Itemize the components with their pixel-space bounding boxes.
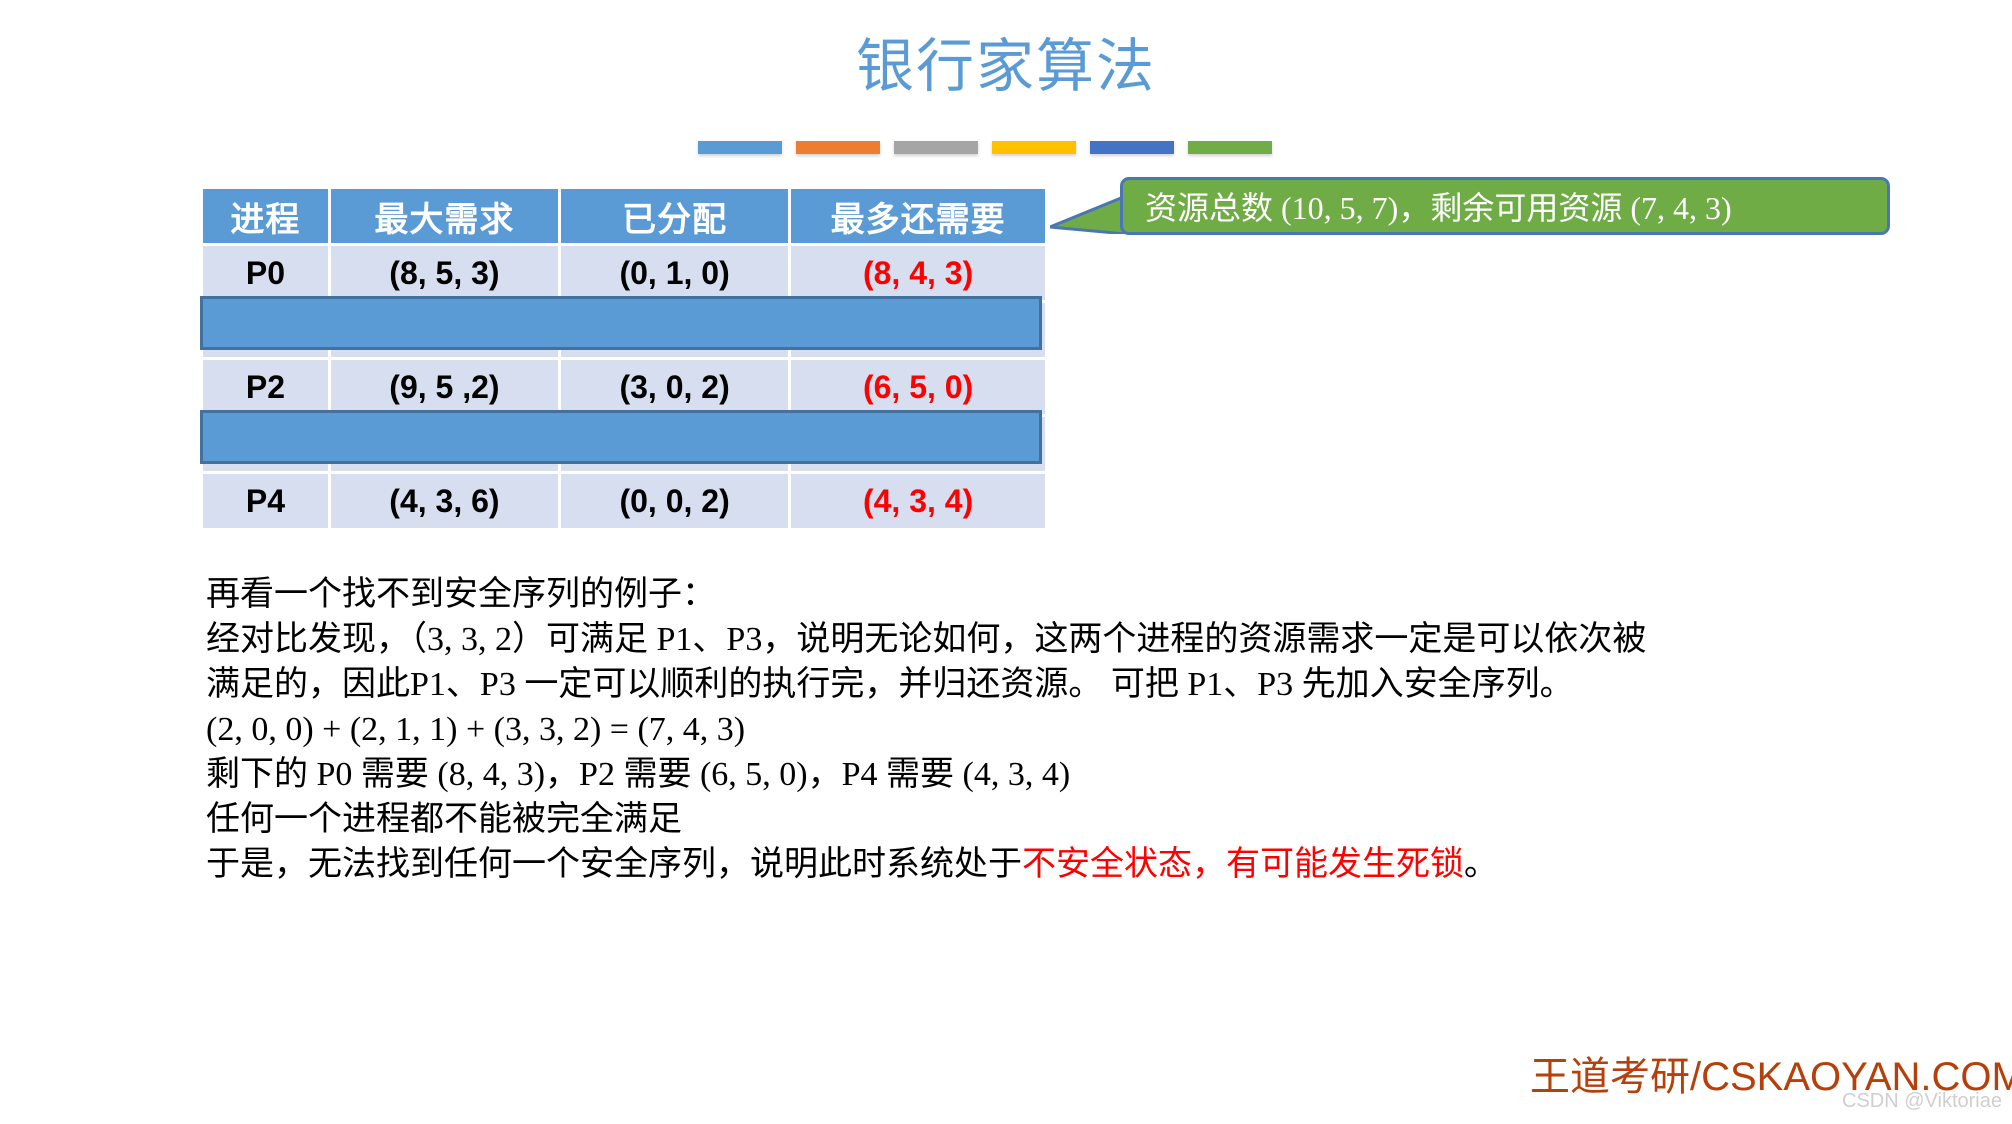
cell-process: P2 <box>203 360 328 414</box>
body-line-6: 任何一个进程都不能被完全满足 <box>206 797 1906 842</box>
cell-need: (4, 3, 4) <box>791 474 1045 528</box>
bankers-algorithm-table: 进程 最大需求 已分配 最多还需要 P0 (8, 5, 3) (0, 1, 0)… <box>200 186 1048 531</box>
table-header-allocated: 已分配 <box>561 189 788 243</box>
body-line-7: 于是，无法找到任何一个安全序列，说明此时系统处于不安全状态，有可能发生死锁。 <box>206 842 1906 887</box>
color-bar-blue <box>698 141 782 154</box>
body-line-5: 剩下的 P0 需要 (8, 4, 3)，P2 需要 (6, 5, 0)，P4 需… <box>206 752 1906 797</box>
explanation-text-block: 再看一个找不到安全序列的例子： 经对比发现，（3, 3, 2）可满足 P1、P3… <box>206 572 1906 887</box>
cell-allocated: (3, 0, 2) <box>561 360 788 414</box>
table-header-max: 最大需求 <box>331 189 558 243</box>
body-line-3: 满足的，因此P1、P3 一定可以顺利的执行完，并归还资源。 可把 P1、P3 先… <box>206 662 1906 707</box>
mask-bar-row-p1 <box>200 296 1042 350</box>
body-line-7-highlight: 不安全状态，有可能发生死锁 <box>1022 846 1464 883</box>
resource-total-callout: 资源总数 (10, 5, 7)，剩余可用资源 (7, 4, 3) <box>1120 177 1890 235</box>
body-line-7-suffix: 。 <box>1464 846 1498 883</box>
color-bar-yellow <box>992 141 1076 154</box>
body-line-2: 经对比发现，（3, 3, 2）可满足 P1、P3，说明无论如何，这两个进程的资源… <box>206 617 1906 662</box>
color-bar-orange <box>796 141 880 154</box>
cell-max: (8, 5, 3) <box>331 246 558 300</box>
mask-bar-row-p3 <box>200 410 1042 464</box>
cell-max: (4, 3, 6) <box>331 474 558 528</box>
table-row: P4 (4, 3, 6) (0, 0, 2) (4, 3, 4) <box>203 474 1045 528</box>
callout-tail-icon <box>1050 196 1126 234</box>
decorative-color-bars <box>698 141 1272 154</box>
body-line-7-prefix: 于是，无法找到任何一个安全序列，说明此时系统处于 <box>206 846 1022 883</box>
table-row: P2 (9, 5 ,2) (3, 0, 2) (6, 5, 0) <box>203 360 1045 414</box>
cell-max: (9, 5 ,2) <box>331 360 558 414</box>
cell-process: P4 <box>203 474 328 528</box>
table-header-need: 最多还需要 <box>791 189 1045 243</box>
callout-text: 资源总数 (10, 5, 7)，剩余可用资源 (7, 4, 3) <box>1145 183 1732 229</box>
table-header-row: 进程 最大需求 已分配 最多还需要 <box>203 189 1045 243</box>
color-bar-gray <box>894 141 978 154</box>
page-title: 银行家算法 <box>0 34 2012 101</box>
color-bar-darkblue <box>1090 141 1174 154</box>
cell-need: (6, 5, 0) <box>791 360 1045 414</box>
color-bar-green <box>1188 141 1272 154</box>
table-row: P0 (8, 5, 3) (0, 1, 0) (8, 4, 3) <box>203 246 1045 300</box>
cell-allocated: (0, 0, 2) <box>561 474 788 528</box>
cell-need: (8, 4, 3) <box>791 246 1045 300</box>
body-line-4: (2, 0, 0) + (2, 1, 1) + (3, 3, 2) = (7, … <box>206 707 1906 752</box>
watermark-label: CSDN @Viktoriae <box>1842 1090 2002 1113</box>
table-header-process: 进程 <box>203 189 328 243</box>
cell-process: P0 <box>203 246 328 300</box>
body-line-1: 再看一个找不到安全序列的例子： <box>206 572 1906 617</box>
cell-allocated: (0, 1, 0) <box>561 246 788 300</box>
